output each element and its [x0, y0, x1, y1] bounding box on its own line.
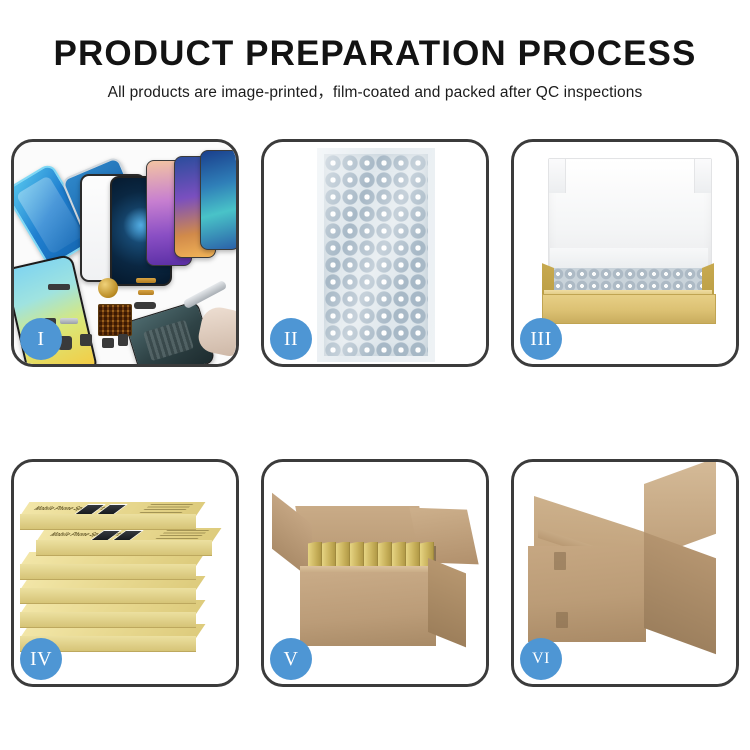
retail-box-labeled: Mobile Phone Spare Parts	[20, 502, 196, 528]
process-step-panel-1: I	[11, 139, 239, 367]
step-badge-3: III	[520, 318, 562, 360]
phone-teal-display	[200, 150, 236, 250]
step-badge-2: II	[270, 318, 312, 360]
step-badge-5: V	[270, 638, 312, 680]
charging-port-part	[118, 334, 128, 346]
process-step-grid: I II	[11, 139, 739, 707]
step-badge-4: IV	[20, 638, 62, 680]
page-subtitle: All products are image-printed，film-coat…	[0, 83, 750, 103]
carton-flap-notch	[554, 552, 566, 570]
step-badge-6: VI	[520, 638, 562, 680]
earpiece-part	[102, 338, 114, 348]
tweezers-tool	[183, 280, 228, 310]
box-front-face	[20, 612, 196, 628]
page-title: PRODUCT PREPARATION PROCESS	[0, 33, 750, 75]
camera-module-part	[134, 302, 156, 309]
box-front-face	[36, 540, 212, 556]
step-badge-1: I	[20, 318, 62, 360]
ic-chip-array	[98, 304, 132, 336]
process-step-panel-5: V	[261, 459, 489, 687]
process-step-panel-6: VI	[511, 459, 739, 687]
product-preparation-page: PRODUCT PREPARATION PROCESS All products…	[0, 0, 750, 750]
carton-side-panel	[428, 558, 466, 647]
retail-box-labeled: Mobile Phone Spare Parts	[36, 528, 212, 554]
metal-bracket-part	[60, 318, 78, 324]
header: PRODUCT PREPARATION PROCESS All products…	[0, 0, 750, 122]
bubble-wrap-gloss	[324, 154, 428, 356]
carton-front-face	[528, 546, 646, 642]
process-step-panel-3: III	[511, 139, 739, 367]
gold-connector-part	[138, 290, 154, 295]
box-front-face	[20, 514, 196, 530]
flex-cable-part	[48, 284, 70, 290]
box-front-panel	[542, 294, 716, 324]
process-step-panel-2: II	[261, 139, 489, 367]
box-front-face	[20, 564, 196, 580]
gold-flex-strip	[136, 278, 156, 283]
process-step-panel-4: Mobile Phone Spare Parts Mobile Phone Sp…	[11, 459, 239, 687]
box-front-face	[20, 588, 196, 604]
vibrator-part	[80, 334, 92, 346]
carton-right-face	[644, 532, 716, 654]
carton-front-panel	[300, 572, 436, 646]
copper-coil-part	[98, 278, 118, 298]
carton-flap-notch	[556, 612, 568, 628]
